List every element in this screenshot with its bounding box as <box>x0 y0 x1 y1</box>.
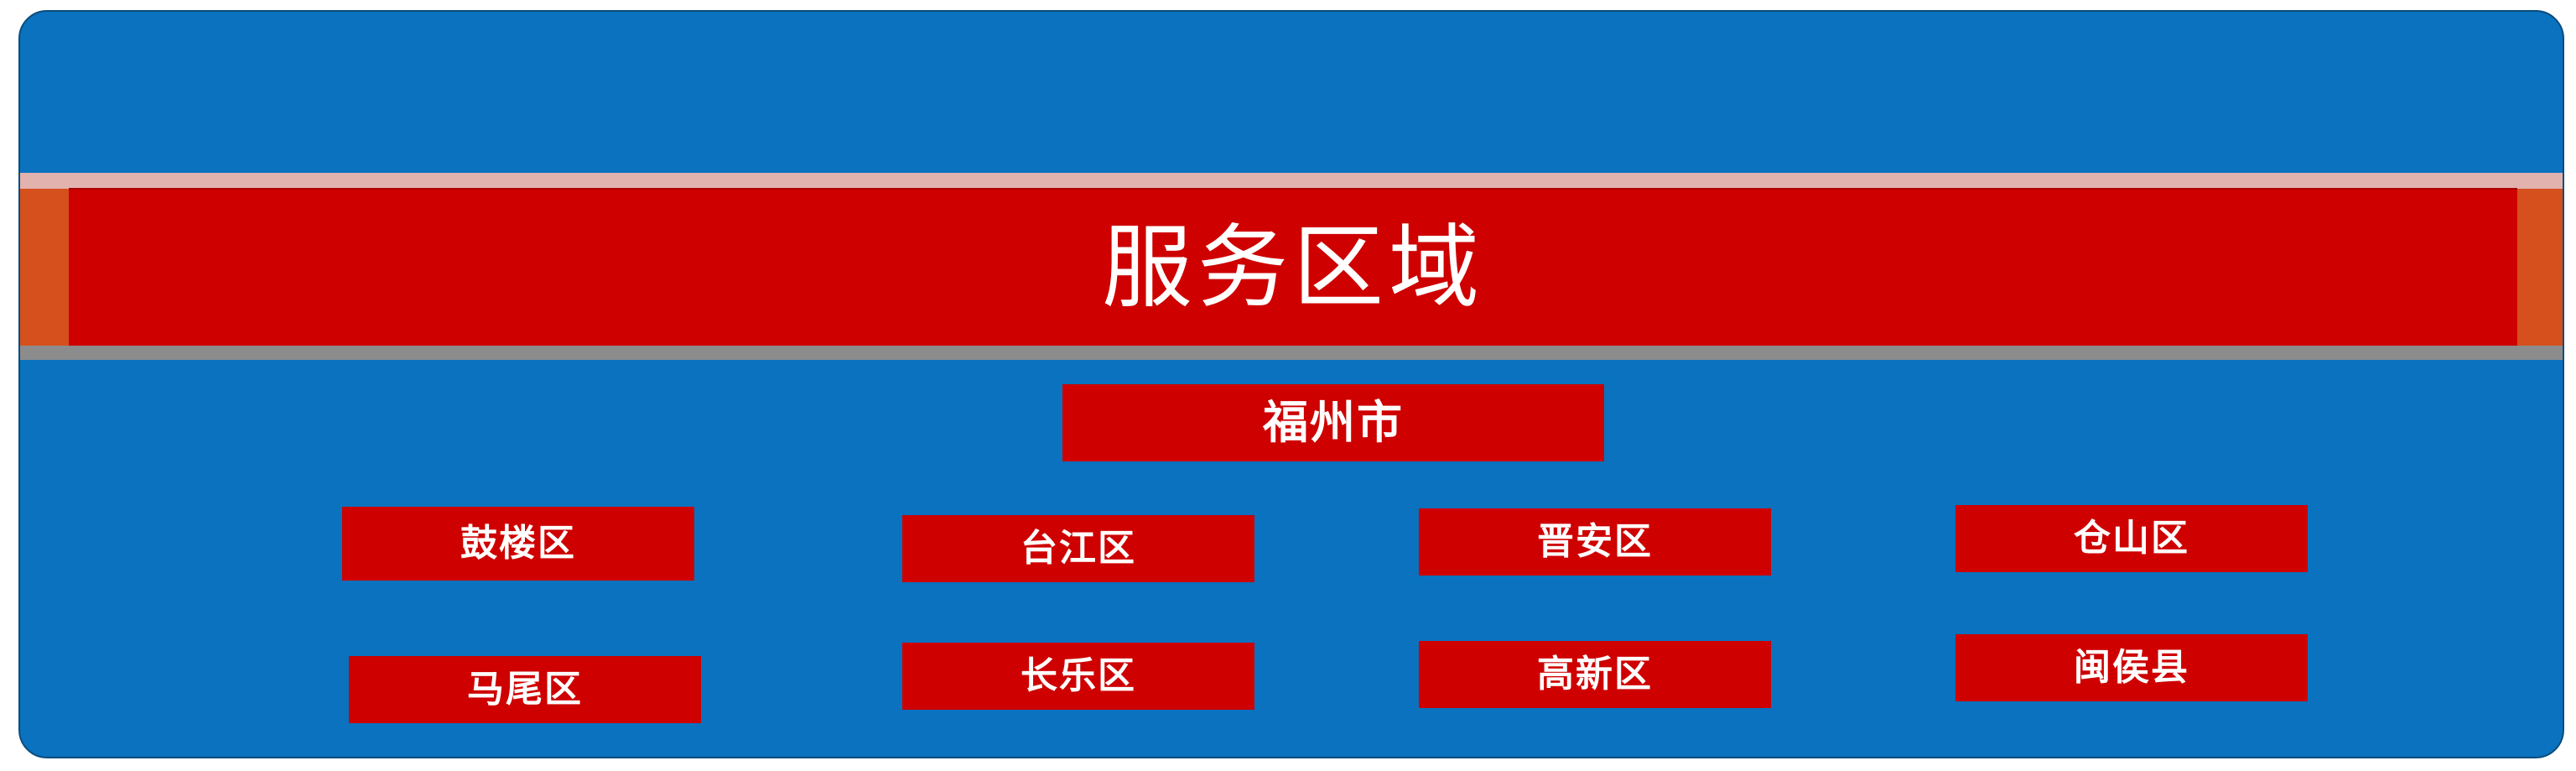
district-chip-label: 鼓楼区 <box>460 525 576 562</box>
district-chip-label: 长乐区 <box>1021 658 1136 695</box>
city-chip-label: 福州市 <box>1263 400 1404 445</box>
district-chip-label: 晋安区 <box>1537 524 1653 560</box>
district-chip[interactable]: 马尾区 <box>349 656 701 723</box>
service-area-banner: 服务区域 <box>20 163 2564 362</box>
district-chip[interactable]: 仓山区 <box>1955 505 2308 572</box>
district-chip-label: 台江区 <box>1021 530 1136 567</box>
district-chip-label: 仓山区 <box>2074 520 2189 557</box>
banner-bottom-accent-strip <box>20 346 2564 360</box>
district-chip[interactable]: 闽侯县 <box>1955 634 2308 701</box>
district-chip[interactable]: 高新区 <box>1419 641 1771 708</box>
district-chip-label: 高新区 <box>1537 656 1653 693</box>
district-chip-label: 闽侯县 <box>2074 649 2189 686</box>
district-chip-label: 马尾区 <box>467 671 583 708</box>
district-chip[interactable]: 鼓楼区 <box>342 507 694 581</box>
district-chip[interactable]: 长乐区 <box>902 643 1254 710</box>
city-chip-fuzhou[interactable]: 福州市 <box>1062 384 1604 461</box>
district-chip[interactable]: 台江区 <box>902 515 1254 582</box>
banner-red-plate: 服务区域 <box>69 188 2517 346</box>
banner-title: 服务区域 <box>1102 223 1484 314</box>
service-area-panel: 服务区域 福州市 鼓楼区台江区晋安区仓山区马尾区长乐区高新区闽侯县 <box>18 10 2564 758</box>
banner-top-accent-strip <box>20 173 2564 190</box>
district-chip[interactable]: 晋安区 <box>1419 508 1771 576</box>
